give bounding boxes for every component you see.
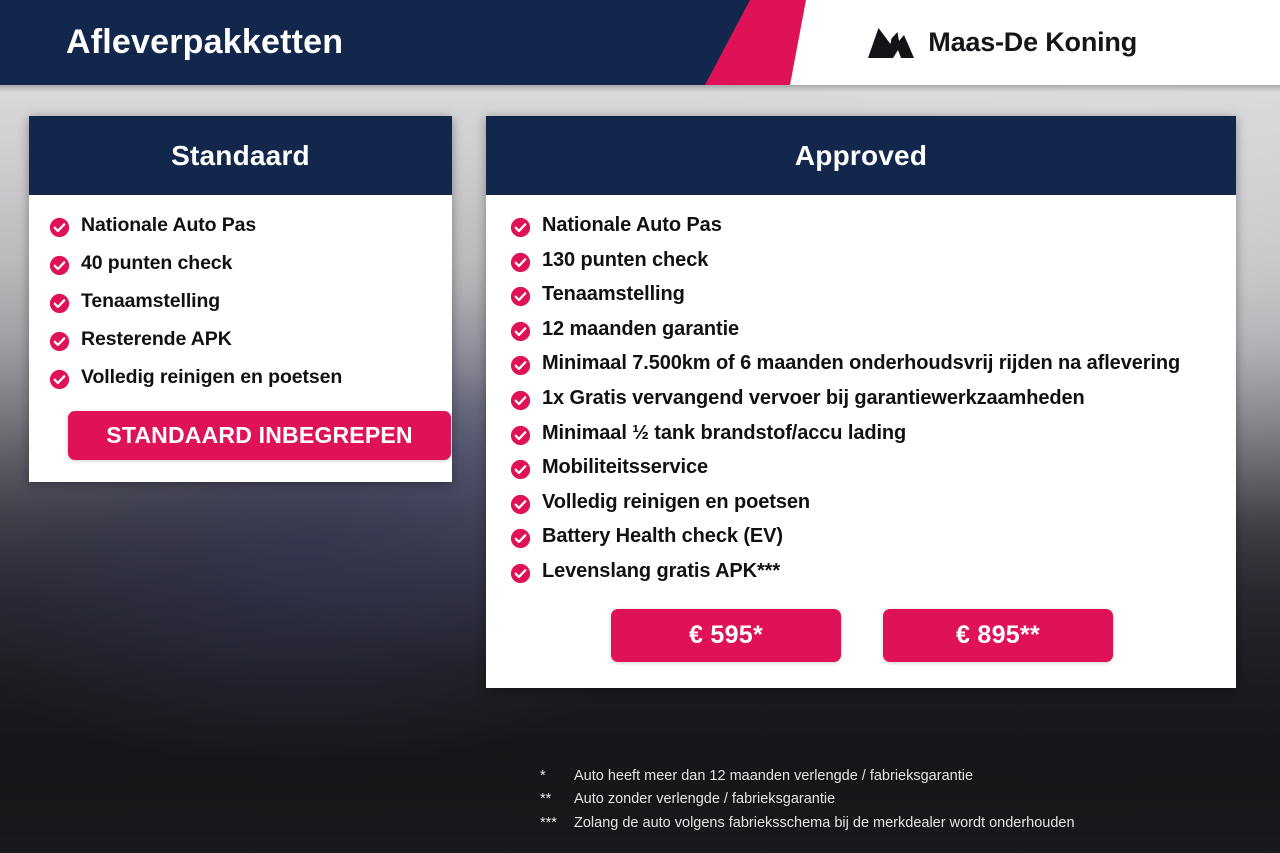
check-circle-icon [49,255,70,276]
footnotes: * Auto heeft meer dan 12 maanden verleng… [540,765,1075,835]
feature-label: 40 punten check [81,251,232,276]
check-circle-icon [510,217,531,238]
feature-label: Nationale Auto Pas [81,213,256,238]
list-item: Volledig reinigen en poetsen [49,365,434,390]
footnote-text: Auto heeft meer dan 12 maanden verlengde… [574,765,973,788]
check-circle-icon [510,494,531,515]
list-item: Minimaal 7.500km of 6 maanden onderhouds… [510,351,1214,377]
feature-list-standaard: Nationale Auto Pas 40 punten check Tenaa… [49,213,434,390]
brand-name: Maas-De Koning [928,27,1137,58]
feature-label: Minimaal ½ tank brandstof/accu lading [542,421,906,447]
check-circle-icon [510,528,531,549]
card-header-approved: Approved [486,116,1236,195]
list-item: Tenaamstelling [49,289,434,314]
feature-label: Levenslang gratis APK*** [542,559,780,585]
feature-label: Tenaamstelling [81,289,220,314]
check-circle-icon [49,331,70,352]
footnote-row: * Auto heeft meer dan 12 maanden verleng… [540,765,1075,788]
feature-label: Volledig reinigen en poetsen [81,365,342,390]
list-item: 40 punten check [49,251,434,276]
price-button-row: € 595* € 895** [510,609,1214,662]
list-item: Minimaal ½ tank brandstof/accu lading [510,421,1214,447]
footnote-marker: ** [540,788,574,811]
list-item: 130 punten check [510,248,1214,274]
feature-label: Resterende APK [81,327,232,352]
list-item: 1x Gratis vervangend vervoer bij garanti… [510,386,1214,412]
feature-list-approved: Nationale Auto Pas 130 punten check Tena… [510,213,1214,585]
card-body-standaard: Nationale Auto Pas 40 punten check Tenaa… [29,195,452,482]
check-circle-icon [510,252,531,273]
card-header-standaard: Standaard [29,116,452,195]
list-item: Volledig reinigen en poetsen [510,490,1214,516]
feature-label: Nationale Auto Pas [542,213,722,239]
check-circle-icon [49,217,70,238]
feature-label: Minimaal 7.500km of 6 maanden onderhouds… [542,351,1180,377]
check-circle-icon [510,459,531,480]
page-header: Afleverpakketten Maas-De Koning [0,0,1280,85]
list-item: Battery Health check (EV) [510,524,1214,550]
list-item: Tenaamstelling [510,282,1214,308]
feature-label: Tenaamstelling [542,282,685,308]
check-circle-icon [510,425,531,446]
feature-label: 1x Gratis vervangend vervoer bij garanti… [542,386,1085,412]
list-item: Levenslang gratis APK*** [510,559,1214,585]
card-title-standaard: Standaard [171,140,310,172]
page-title: Afleverpakketten [66,0,343,85]
check-circle-icon [510,563,531,584]
package-card-approved: Approved Nationale Auto Pas 130 punten c… [486,116,1236,688]
feature-label: Battery Health check (EV) [542,524,783,550]
check-circle-icon [49,293,70,314]
price-button-895[interactable]: € 895** [883,609,1113,662]
header-shadow [0,85,1280,92]
check-circle-icon [49,369,70,390]
list-item: Nationale Auto Pas [49,213,434,238]
check-circle-icon [510,286,531,307]
list-item: Mobiliteitsservice [510,455,1214,481]
footnote-marker: *** [540,812,574,835]
check-circle-icon [510,355,531,376]
feature-label: Mobiliteitsservice [542,455,708,481]
footnote-row: ** Auto zonder verlengde / fabrieksgaran… [540,788,1075,811]
list-item: Nationale Auto Pas [510,213,1214,239]
feature-label: 130 punten check [542,248,708,274]
check-circle-icon [510,321,531,342]
footnote-row: *** Zolang de auto volgens fabrieksschem… [540,812,1075,835]
maas-de-koning-m-logo-icon [868,26,914,60]
footnote-marker: * [540,765,574,788]
card-title-approved: Approved [795,140,927,172]
feature-label: 12 maanden garantie [542,317,739,343]
package-card-standaard: Standaard Nationale Auto Pas 40 punten c… [29,116,452,482]
list-item: 12 maanden garantie [510,317,1214,343]
check-circle-icon [510,390,531,411]
standaard-inbegrepen-button[interactable]: STANDAARD INBEGREPEN [68,411,451,460]
footnote-text: Zolang de auto volgens fabrieksschema bi… [574,812,1075,835]
card-body-approved: Nationale Auto Pas 130 punten check Tena… [486,195,1236,688]
feature-label: Volledig reinigen en poetsen [542,490,810,516]
price-button-595[interactable]: € 595* [611,609,841,662]
list-item: Resterende APK [49,327,434,352]
footnote-text: Auto zonder verlengde / fabrieksgarantie [574,788,835,811]
brand-lockup: Maas-De Koning [868,0,1137,85]
